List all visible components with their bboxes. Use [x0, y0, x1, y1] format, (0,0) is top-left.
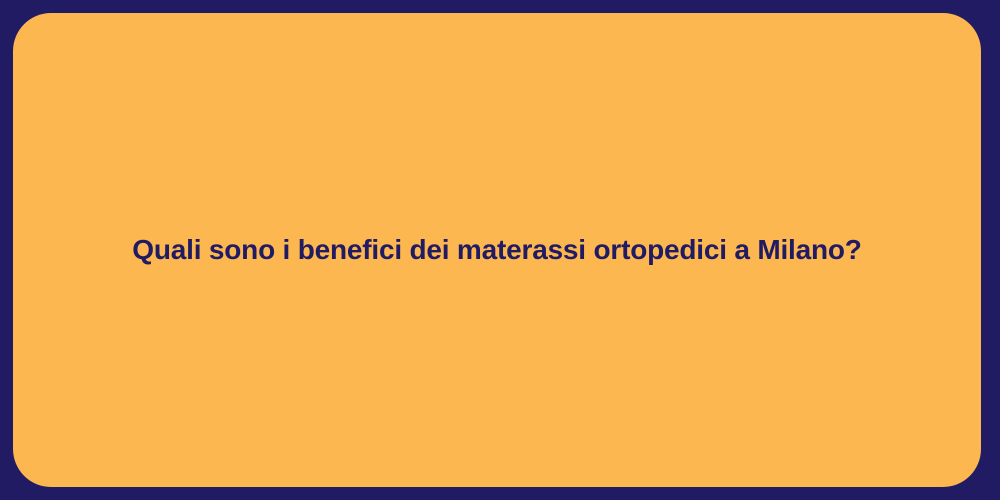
card-frame: Quali sono i benefici dei materassi orto…	[0, 0, 1000, 500]
page-title: Quali sono i benefici dei materassi orto…	[13, 232, 981, 268]
question-card-panel: Quali sono i benefici dei materassi orto…	[13, 13, 981, 487]
